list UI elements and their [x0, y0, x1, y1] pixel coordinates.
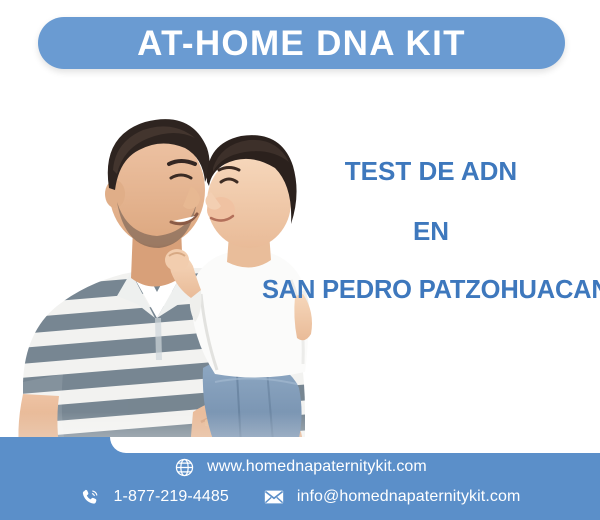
- envelope-icon: [263, 486, 285, 508]
- globe-icon: [173, 456, 195, 478]
- poster-canvas: AT-HOME DNA KIT: [0, 0, 600, 520]
- footer-phone-text: 1-877-219-4485: [114, 488, 229, 506]
- headline-line-1: TEST DE ADN: [262, 158, 600, 185]
- footer-website-item[interactable]: www.homednapaternitykit.com: [173, 456, 427, 478]
- footer-email-item[interactable]: info@homednapaternitykit.com: [263, 486, 521, 508]
- headline-line-2: EN: [262, 218, 600, 245]
- footer-row-website: www.homednapaternitykit.com: [0, 456, 600, 478]
- phone-icon: [80, 486, 102, 508]
- header-banner-pill: AT-HOME DNA KIT: [38, 17, 565, 69]
- footer-row-phone-email: 1-877-219-4485 info@homednapaternitykit.…: [0, 486, 600, 508]
- headline-line-3: SAN PEDRO PATZOHUACAN: [262, 277, 600, 304]
- headline-block: TEST DE ADN EN SAN PEDRO PATZOHUACAN: [262, 158, 600, 303]
- footer-phone-item[interactable]: 1-877-219-4485: [80, 486, 229, 508]
- footer-email-text: info@homednapaternitykit.com: [297, 488, 521, 506]
- footer-website-text: www.homednapaternitykit.com: [207, 458, 427, 476]
- page-title: AT-HOME DNA KIT: [137, 26, 466, 61]
- footer-notch-cutout: [110, 437, 600, 453]
